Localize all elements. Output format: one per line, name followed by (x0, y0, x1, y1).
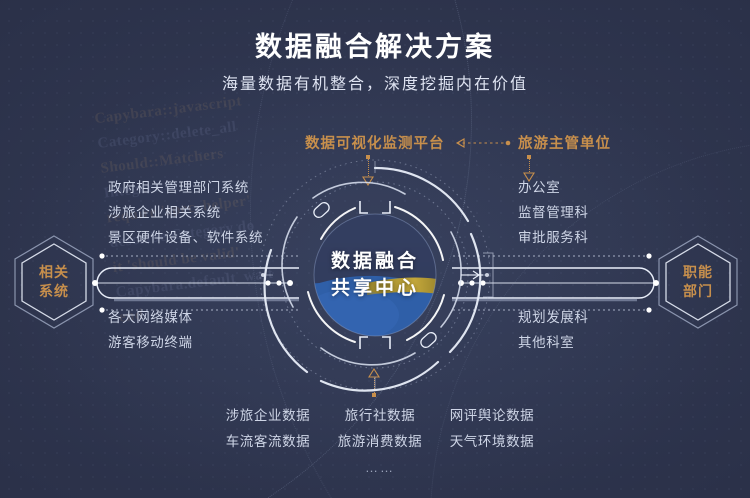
list-item: 涉旅企业相关系统 (108, 200, 263, 225)
left-sources-bottom-list: 各大网络媒体 游客移动终端 (108, 305, 193, 355)
table-row: 车流客流数据 旅游消费数据 天气环境数据 (215, 429, 545, 455)
list-item: 游客移动终端 (108, 330, 193, 355)
left-sources-top-list: 政府相关管理部门系统 涉旅企业相关系统 景区硬件设备、软件系统 (108, 175, 263, 250)
right-departments-bottom-list: 规划发展科 其他科室 (518, 305, 589, 355)
hexagon-right-line2: 部门 (683, 282, 713, 301)
list-item: 各大网络媒体 (108, 305, 193, 330)
list-item: 办公室 (518, 175, 589, 200)
hexagon-right-line1: 职能 (683, 263, 713, 282)
data-cell: 涉旅企业数据 (215, 403, 321, 429)
data-cell: 天气环境数据 (439, 429, 545, 455)
infographic-canvas: Capybara::javascript Category::delete_al… (0, 0, 750, 498)
label-tourism-authority: 旅游主管单位 (518, 132, 611, 153)
data-fusion-core (255, 155, 495, 395)
data-ellipsis: …… (215, 457, 545, 479)
data-cell: 车流客流数据 (215, 429, 321, 455)
right-departments-top-list: 办公室 监督管理科 审批服务科 (518, 175, 589, 250)
table-row: 涉旅企业数据 旅行社数据 网评舆论数据 (215, 403, 545, 429)
list-item: 其他科室 (518, 330, 589, 355)
list-item: 景区硬件设备、软件系统 (108, 225, 263, 250)
label-visualization-platform: 数据可视化监测平台 (305, 132, 445, 153)
list-item: 政府相关管理部门系统 (108, 175, 263, 200)
list-item: 监督管理科 (518, 200, 589, 225)
connector-line (529, 159, 530, 172)
hexagon-left-line2: 系统 (39, 282, 69, 301)
dotted-arrow-icon (448, 137, 514, 149)
bottom-data-grid: 涉旅企业数据 旅行社数据 网评舆论数据 车流客流数据 旅游消费数据 天气环境数据… (215, 403, 545, 479)
list-item: 规划发展科 (518, 305, 589, 330)
data-cell: 旅行社数据 (327, 403, 433, 429)
hexagon-left-line1: 相关 (39, 263, 69, 282)
page-subtitle: 海量数据有机整合，深度挖掘内在价值 (0, 70, 750, 94)
list-item: 审批服务科 (518, 225, 589, 250)
data-cell: 网评舆论数据 (439, 403, 545, 429)
data-cell: 旅游消费数据 (327, 429, 433, 455)
page-title: 数据融合解决方案 (0, 25, 750, 64)
